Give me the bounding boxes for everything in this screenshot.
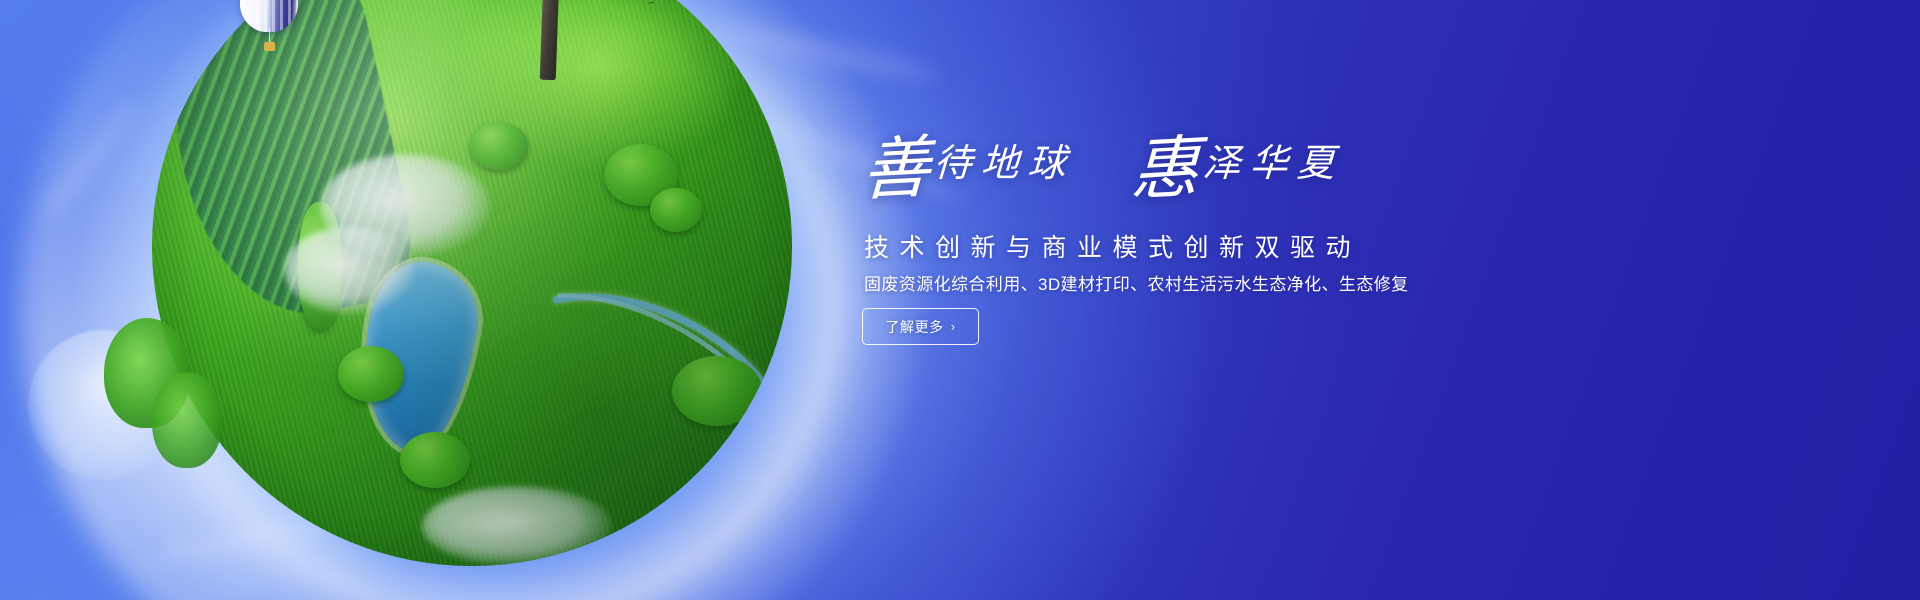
globe-shading (152, 0, 792, 566)
hero-description: 固废资源化综合利用、3D建材打印、农村生活污水生态净化、生态修复 (864, 270, 1409, 295)
hero-text-block: 善待地球惠泽华夏 技术创新与商业模式创新双驱动 固废资源化综合利用、3D建材打印… (862, 0, 1862, 600)
headline-lead-2: 惠 (1130, 133, 1201, 204)
hero-subtitle: 技术创新与商业模式创新双驱动 (864, 228, 1361, 264)
chevron-right-icon: › (951, 320, 956, 333)
headline-lead-1: 善 (861, 133, 932, 204)
headline-rest-2: 泽华夏 (1202, 132, 1346, 187)
learn-more-label: 了解更多 (885, 317, 943, 337)
bird-icon (649, 2, 655, 6)
globe-illustration (152, 0, 792, 566)
bird-icon (623, 0, 629, 1)
headline-rest-1: 待地球 (933, 132, 1077, 187)
hot-air-balloon (240, 0, 298, 58)
flock-of-birds (597, 0, 717, 16)
tree-trunk (540, 0, 561, 80)
page-title: 善待地球惠泽华夏 (862, 132, 1344, 203)
foreground-tree (152, 372, 222, 468)
hero-banner: 善待地球惠泽华夏 技术创新与商业模式创新双驱动 固废资源化综合利用、3D建材打印… (0, 0, 1920, 600)
balloon-basket (264, 42, 275, 51)
globe-sphere (152, 0, 792, 566)
bird-icon (701, 0, 707, 1)
learn-more-button[interactable]: 了解更多 › (862, 308, 979, 345)
